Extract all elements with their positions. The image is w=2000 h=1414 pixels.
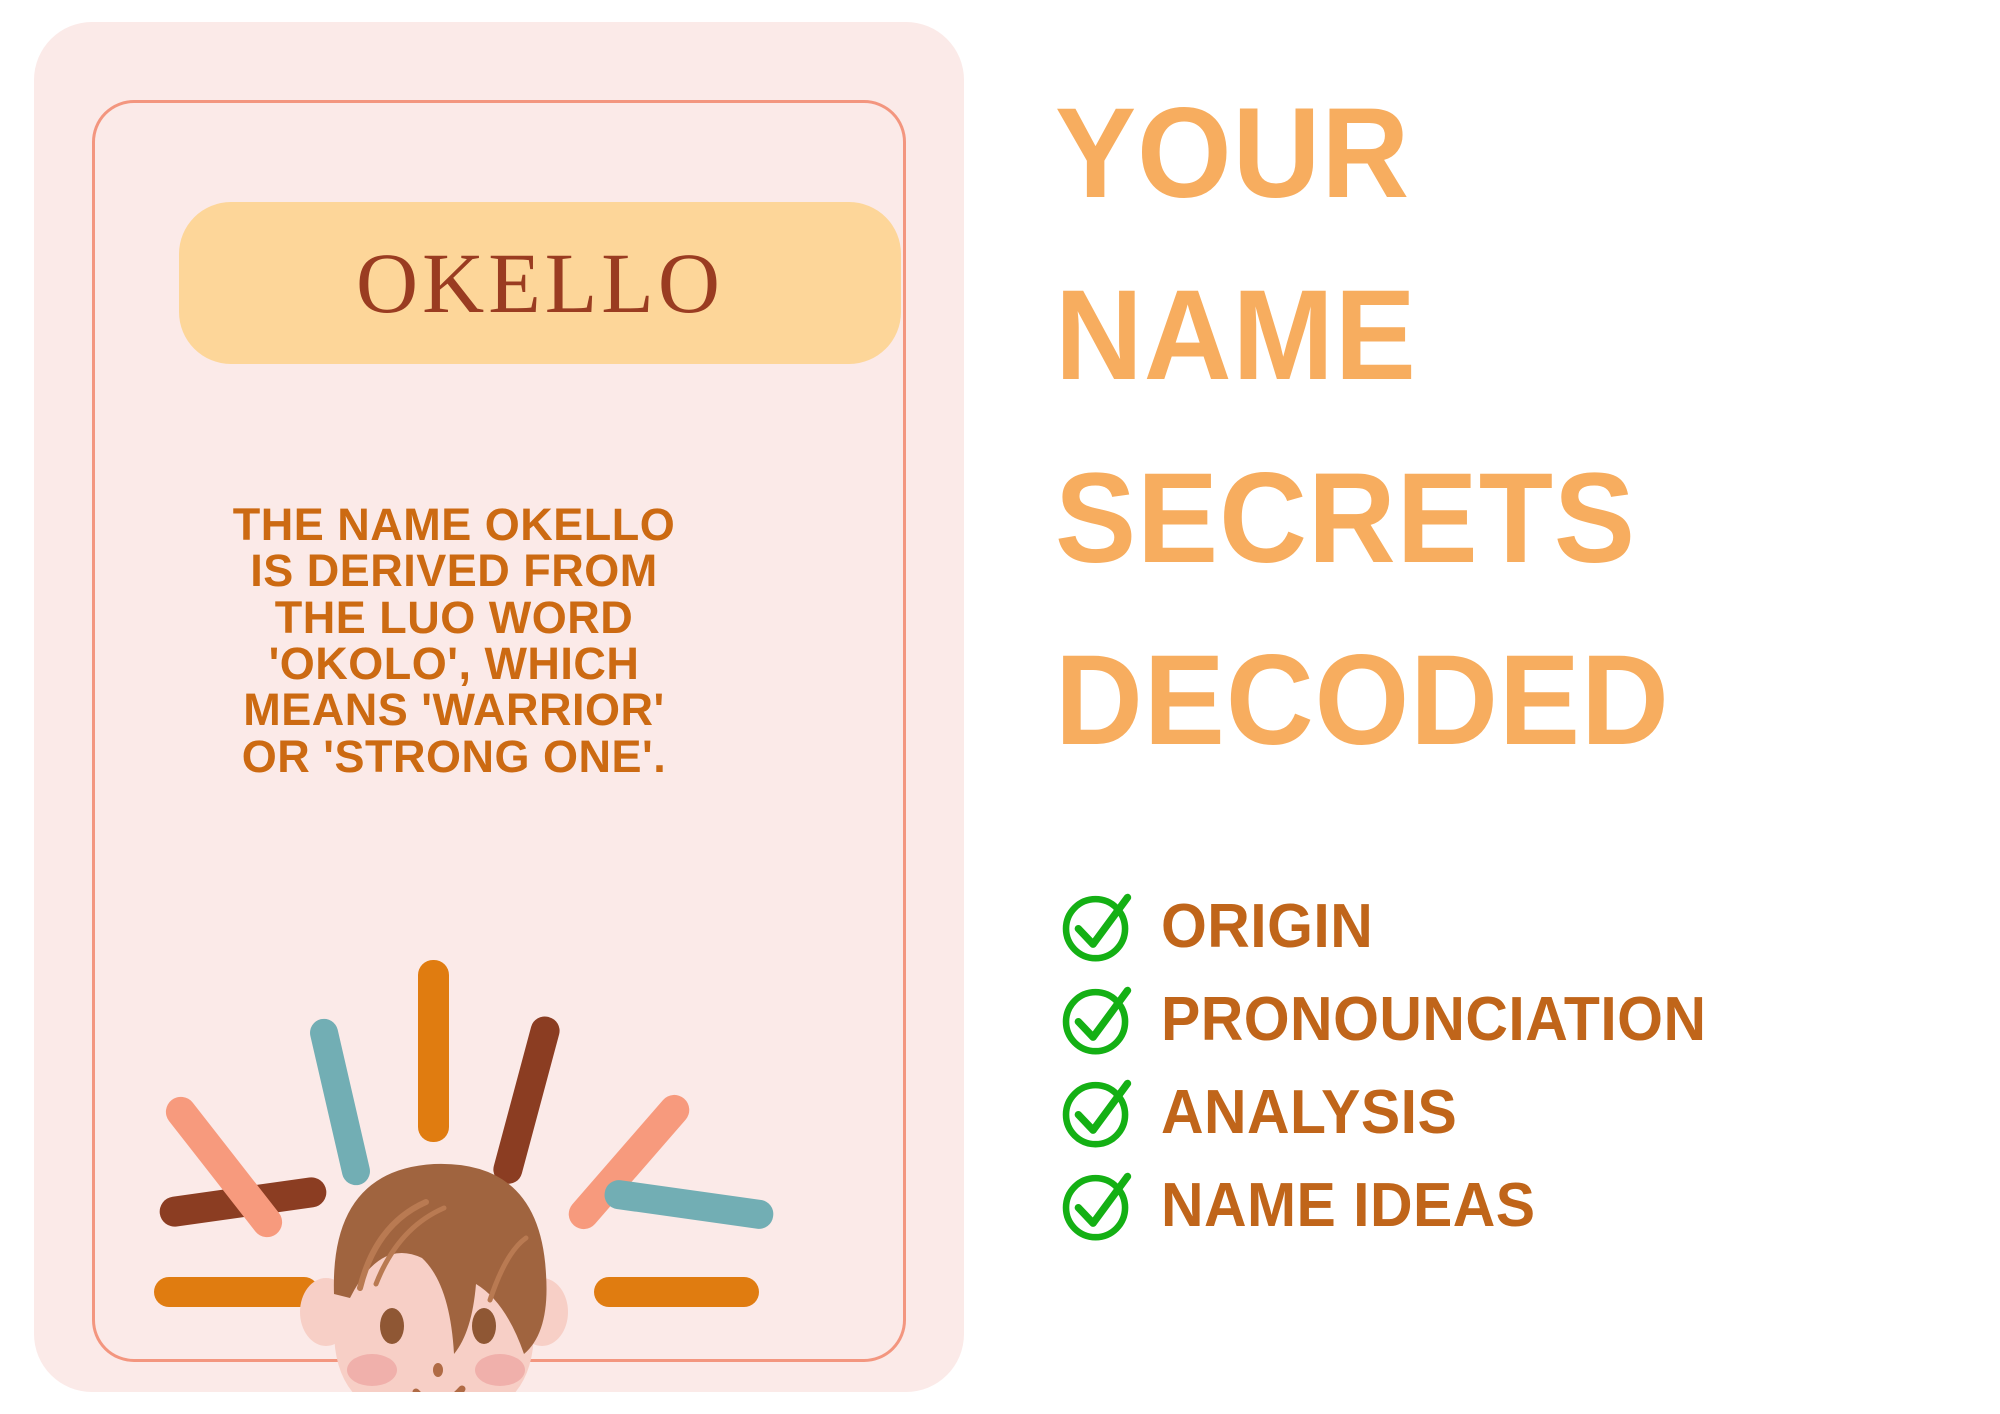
name-description: THE NAME OKELLO IS DERIVED FROM THE LUO … (114, 502, 794, 780)
ray-right-teal (603, 1178, 775, 1230)
check-circle-icon (1057, 1072, 1139, 1154)
blush-left (347, 1354, 397, 1386)
checklist-item-origin[interactable]: ORIGIN (1057, 880, 1977, 973)
ray-left-teal (307, 1016, 373, 1188)
checklist-label: ORIGIN (1161, 891, 1373, 962)
eye-left (380, 1308, 404, 1344)
checklist-item-name-ideas[interactable]: NAME IDEAS (1057, 1159, 1977, 1252)
name-title: OKELLO (356, 240, 724, 326)
name-pill: OKELLO (179, 202, 901, 364)
name-card: OKELLO THE NAME OKELLO IS DERIVED FROM T… (34, 22, 964, 1392)
checklist-label: NAME IDEAS (1161, 1170, 1536, 1241)
headline-line-3: SECRETS (1055, 455, 1636, 583)
headline-line-2: NAME (1055, 272, 1417, 400)
ray-right-orange (594, 1277, 759, 1307)
child-face (300, 1164, 568, 1392)
checklist-label: ANALYSIS (1161, 1077, 1457, 1148)
ray-left-orange (154, 1277, 319, 1307)
check-circle-icon (1057, 1165, 1139, 1247)
poster-canvas: OKELLO THE NAME OKELLO IS DERIVED FROM T… (0, 0, 2000, 1414)
right-panel: YOUR NAME SECRETS DECODED ORIGIN PRONOUN… (1055, 0, 2000, 1414)
headline-line-4: DECODED (1055, 637, 1670, 765)
headline-line-1: YOUR (1055, 90, 1410, 218)
checklist-label: PRONOUNCIATION (1161, 984, 1706, 1055)
child-illustration (154, 902, 854, 1392)
nose (433, 1363, 443, 1377)
feature-checklist: ORIGIN PRONOUNCIATION ANALYSIS (1057, 880, 1977, 1252)
check-circle-icon (1057, 979, 1139, 1061)
check-circle-icon (1057, 886, 1139, 968)
ray-right-dark-brown (490, 1013, 563, 1187)
blush-right (475, 1354, 525, 1386)
ray-top-orange (418, 960, 449, 1142)
checklist-item-analysis[interactable]: ANALYSIS (1057, 1066, 1977, 1159)
checklist-item-pronounciation[interactable]: PRONOUNCIATION (1057, 973, 1977, 1066)
eye-right (472, 1308, 496, 1344)
